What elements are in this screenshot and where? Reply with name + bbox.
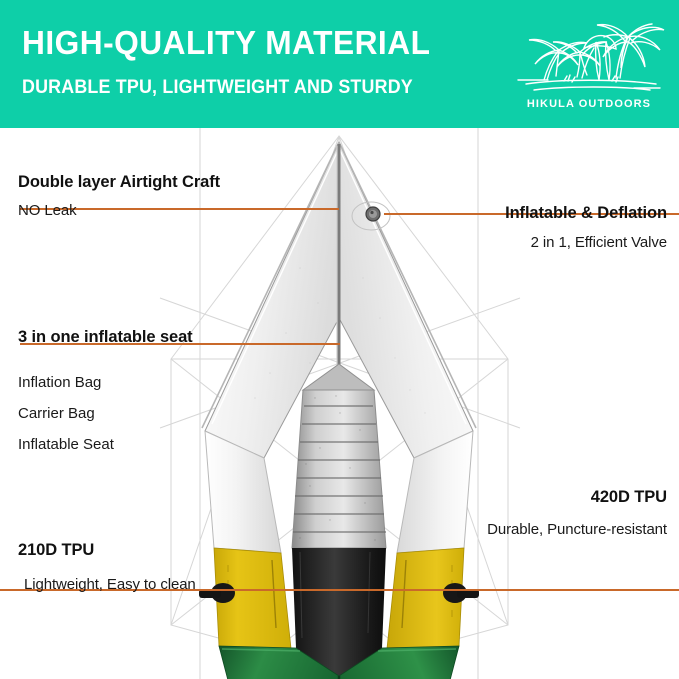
callout-inflatable-seat-title: 3 in one inflatable seat	[18, 327, 193, 348]
callout-420d-tpu-title: 420D TPU	[487, 487, 667, 508]
callout-210d-tpu: 210D TPU Lightweight, Easy to clean	[18, 540, 196, 594]
product-infographic: HIGH-QUALITY MATERIAL DURABLE TPU, LIGHT…	[0, 0, 679, 679]
header-banner: HIGH-QUALITY MATERIAL DURABLE TPU, LIGHT…	[0, 0, 679, 128]
callout-airtight-craft-title: Double layer Airtight Craft	[18, 172, 220, 193]
d-ring-left	[199, 583, 235, 603]
callout-valve-subtitle: 2 in 1, Efficient Valve	[505, 233, 667, 253]
callout-valve-title: Inflatable & Deflation	[505, 203, 667, 224]
brand-name: HIKULA OUTDOORS	[508, 98, 670, 110]
callout-inflatable-seat: 3 in one inflatable seat	[18, 327, 193, 348]
d-ring-right	[443, 583, 479, 603]
palm-trees-island-icon	[508, 12, 670, 102]
ribbed-seat	[292, 364, 386, 548]
callout-420d-tpu-subtitle: Durable, Puncture-resistant	[487, 520, 667, 540]
list-item: Inflatable Seat	[18, 437, 114, 452]
callout-airtight-craft-subtitle: NO Leak	[18, 201, 220, 221]
callout-420d-tpu: 420D TPU Durable, Puncture-resistant	[487, 487, 667, 539]
side-tube-yellow-left	[214, 548, 292, 658]
page-subtitle: DURABLE TPU, LIGHTWEIGHT AND STURDY	[22, 78, 413, 97]
brand-logo: HIKULA OUTDOORS	[508, 12, 670, 118]
callout-210d-tpu-subtitle: Lightweight, Easy to clean	[24, 575, 196, 595]
side-tube-yellow-right	[386, 548, 464, 658]
list-item: Inflation Bag	[18, 375, 114, 390]
callout-airtight-craft: Double layer Airtight Craft NO Leak	[18, 172, 220, 220]
page-title: HIGH-QUALITY MATERIAL	[22, 26, 430, 59]
callout-valve: Inflatable & Deflation 2 in 1, Efficient…	[505, 203, 667, 252]
callout-inflatable-seat-list: Inflation Bag Carrier Bag Inflatable Sea…	[18, 375, 114, 468]
list-item: Carrier Bag	[18, 406, 114, 421]
callout-210d-tpu-title: 210D TPU	[18, 540, 196, 561]
